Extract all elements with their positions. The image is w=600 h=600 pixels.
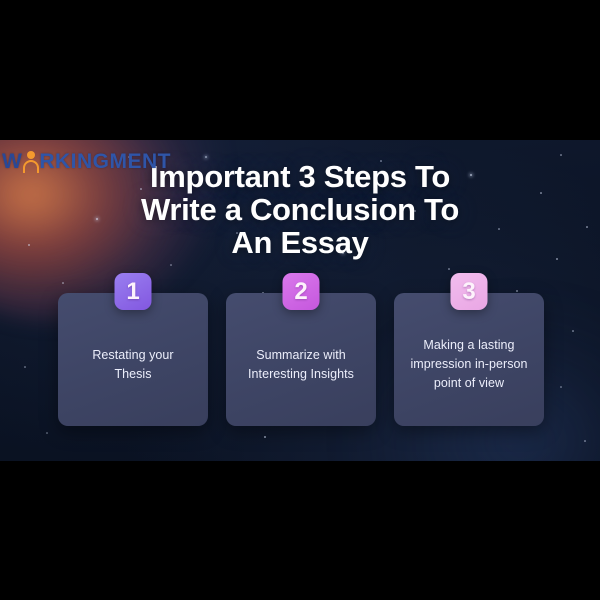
logo-text-after: RKINGMENT (39, 150, 171, 173)
letterbox-bar-bottom (0, 461, 600, 600)
step-card-2[interactable]: 2 Summarize with Interesting Insights (226, 293, 376, 426)
slide-stage: WRKINGMENT Important 3 Steps To Write a … (0, 140, 600, 461)
letterbox-bar-top (0, 0, 600, 140)
step-card-1[interactable]: 1 Restating your Thesis (58, 293, 208, 426)
steps-card-row: 1 Restating your Thesis 2 Summarize with… (58, 293, 544, 426)
step-card-2-text: Summarize with Interesting Insights (226, 346, 376, 384)
step-card-3[interactable]: 3 Making a lasting impression in-person … (394, 293, 544, 426)
step-number-badge-2: 2 (283, 273, 320, 310)
logo-text-before: W (2, 150, 22, 173)
step-number-badge-1: 1 (115, 273, 152, 310)
workingment-logo[interactable]: WRKINGMENT (2, 148, 171, 174)
person-icon (22, 150, 39, 171)
page-title-line-2: Write a Conclusion To (78, 193, 522, 226)
page-title-line-3: An Essay (78, 226, 522, 259)
step-number-badge-3: 3 (451, 273, 488, 310)
step-card-1-text: Restating your Thesis (58, 346, 208, 384)
page-title: Important 3 Steps To Write a Conclusion … (0, 160, 600, 259)
screenshot-frame: WRKINGMENT Important 3 Steps To Write a … (0, 0, 600, 600)
step-card-3-text: Making a lasting impression in-person po… (394, 336, 544, 393)
